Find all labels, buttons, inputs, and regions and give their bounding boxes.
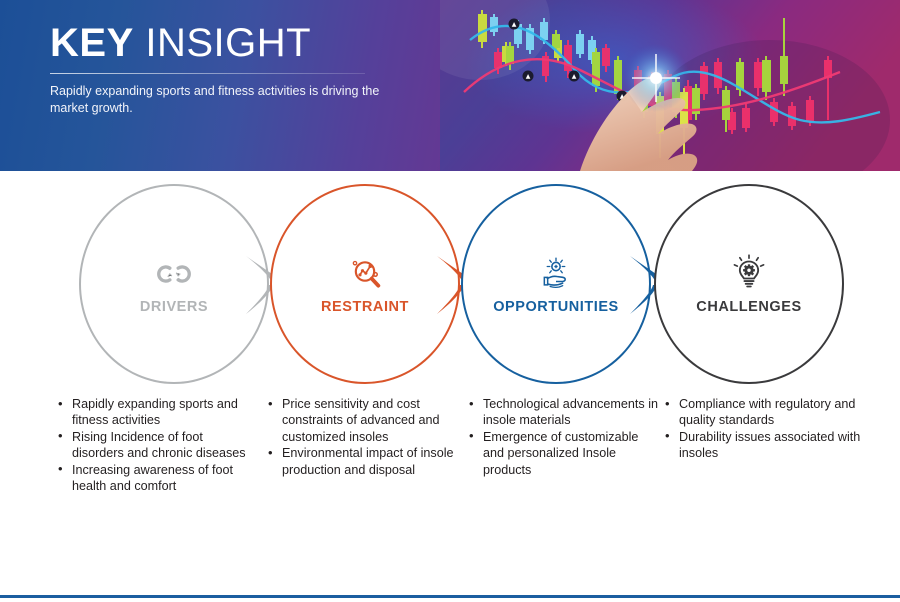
svg-text:▲: ▲	[572, 73, 577, 80]
flow-node-drivers[interactable]: DRIVERS	[79, 184, 269, 384]
challenges-label: CHALLENGES	[696, 299, 801, 315]
bullet-column-challenges: Compliance with regulatory and quality s…	[663, 396, 863, 462]
svg-text:▲: ▲	[512, 21, 517, 28]
hand-holding-idea-icon	[536, 254, 576, 294]
drivers-label: DRIVERS	[140, 299, 208, 315]
page-title: KEY INSIGHT	[50, 20, 410, 66]
list-item: Compliance with regulatory and quality s…	[663, 396, 863, 429]
header-banner: ▲▲ ▲▲ KEY INSIGHT Rapidly expanding spor…	[0, 0, 900, 171]
bullet-column-opportunities: Technological advancements in insole mat…	[467, 396, 662, 478]
header-stock-chart-image: ▲▲ ▲▲	[440, 0, 900, 171]
bullet-column-drivers: Rapidly expanding sports and fitness act…	[56, 396, 251, 494]
opportunities-label: OPPORTUNITIES	[493, 299, 619, 315]
bullet-column-restraint: Price sensitivity and cost constraints o…	[266, 396, 461, 478]
bullet-columns: Rapidly expanding sports and fitness act…	[0, 396, 900, 561]
list-item: Rising Incidence of foot disorders and c…	[56, 429, 251, 462]
flow-node-challenges[interactable]: CHALLENGES	[654, 184, 844, 384]
lightbulb-gear-icon	[729, 254, 769, 294]
footer-divider	[0, 595, 900, 598]
list-item: Durability issues associated with insole…	[663, 429, 863, 462]
flow-diagram: DRIVERS RESTRAINT	[0, 171, 900, 396]
list-item: Price sensitivity and cost constraints o…	[266, 396, 461, 445]
title-divider	[50, 73, 365, 74]
header-subtitle: Rapidly expanding sports and fitness act…	[50, 83, 380, 116]
page-title-bold: KEY	[50, 21, 134, 65]
flow-node-restraint[interactable]: RESTRAINT	[270, 184, 460, 384]
list-item: Rapidly expanding sports and fitness act…	[56, 396, 251, 429]
page-title-light: INSIGHT	[145, 21, 311, 65]
svg-text:▲: ▲	[526, 73, 531, 80]
circular-arrows-icon	[154, 254, 194, 294]
list-item: Increasing awareness of foot health and …	[56, 462, 251, 495]
magnifier-chart-icon	[345, 254, 385, 294]
header-text-block: KEY INSIGHT Rapidly expanding sports and…	[50, 20, 410, 116]
restraint-label: RESTRAINT	[321, 299, 409, 315]
list-item: Emergence of customizable and personaliz…	[467, 429, 662, 478]
list-item: Environmental impact of insole productio…	[266, 445, 461, 478]
flow-node-opportunities[interactable]: OPPORTUNITIES	[461, 184, 651, 384]
list-item: Technological advancements in insole mat…	[467, 396, 662, 429]
